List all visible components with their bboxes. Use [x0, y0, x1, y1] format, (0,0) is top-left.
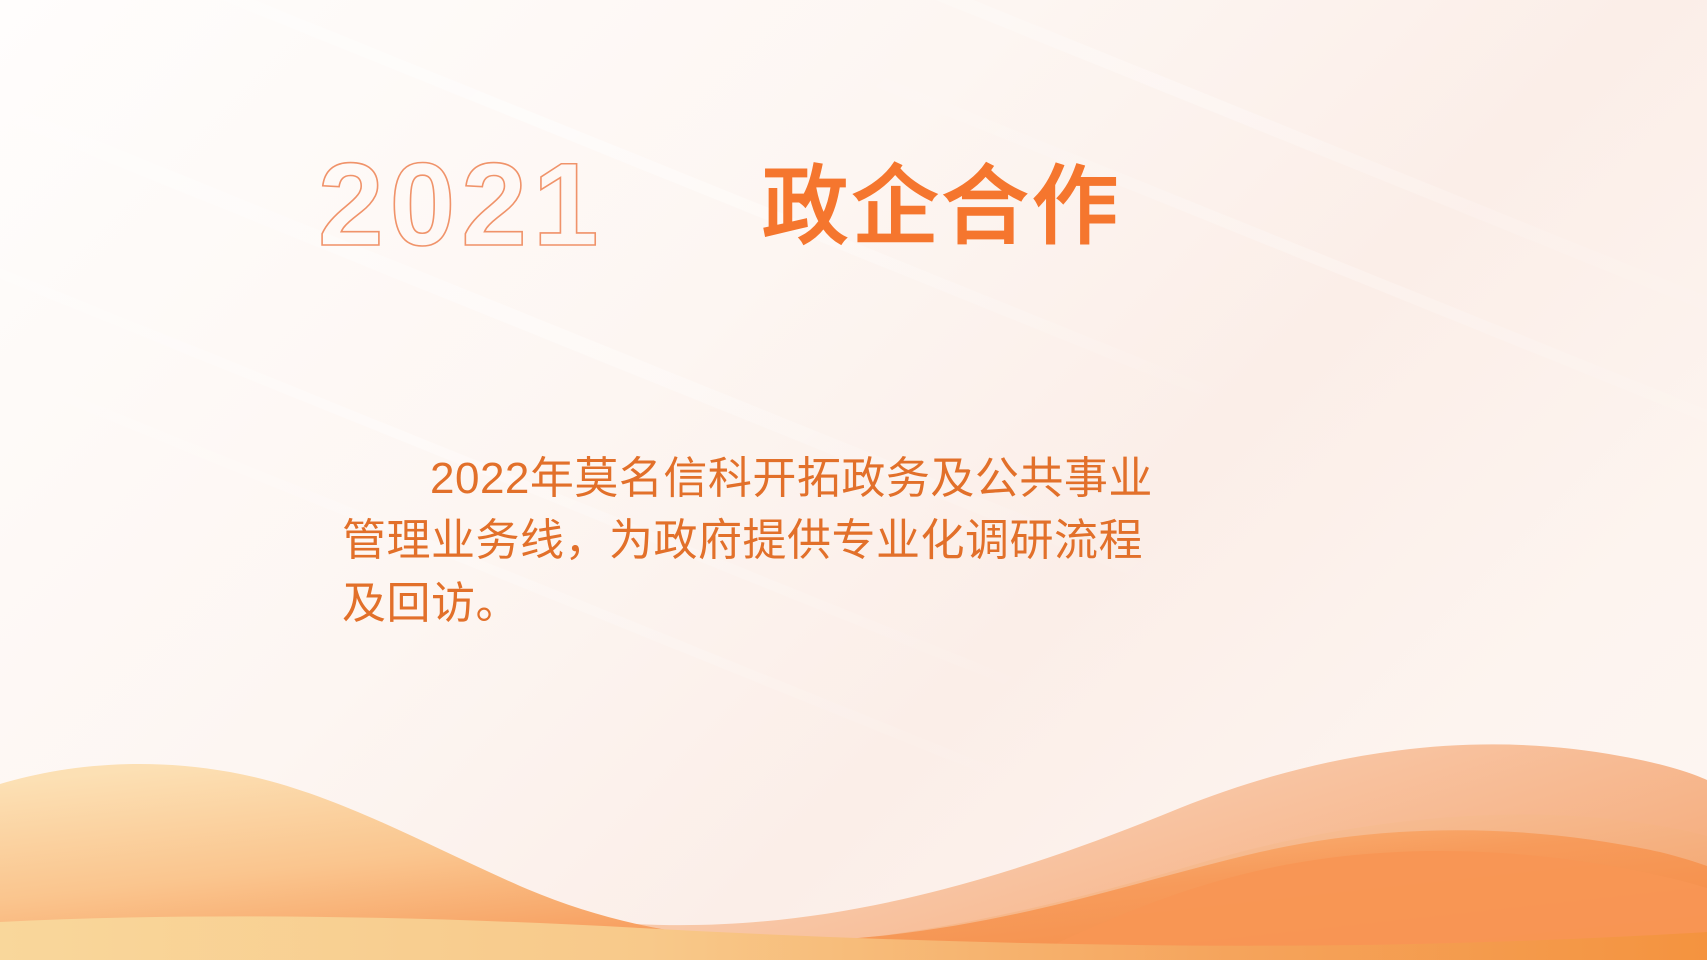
body-paragraph: 2022年莫名信科开拓政务及公共事业管理业务线，为政府提供专业化调研流程及回访。	[342, 448, 1182, 635]
slide-canvas: 2021 政企合作 2022年莫名信科开拓政务及公共事业管理业务线，为政府提供专…	[0, 0, 1707, 960]
background-sheen-streak	[565, 0, 1707, 337]
bottom-wave-decoration	[0, 660, 1707, 960]
background-sheen-streak	[798, 44, 1707, 467]
page-title: 政企合作	[762, 160, 1122, 255]
year-outline-text: 2021	[318, 146, 605, 264]
